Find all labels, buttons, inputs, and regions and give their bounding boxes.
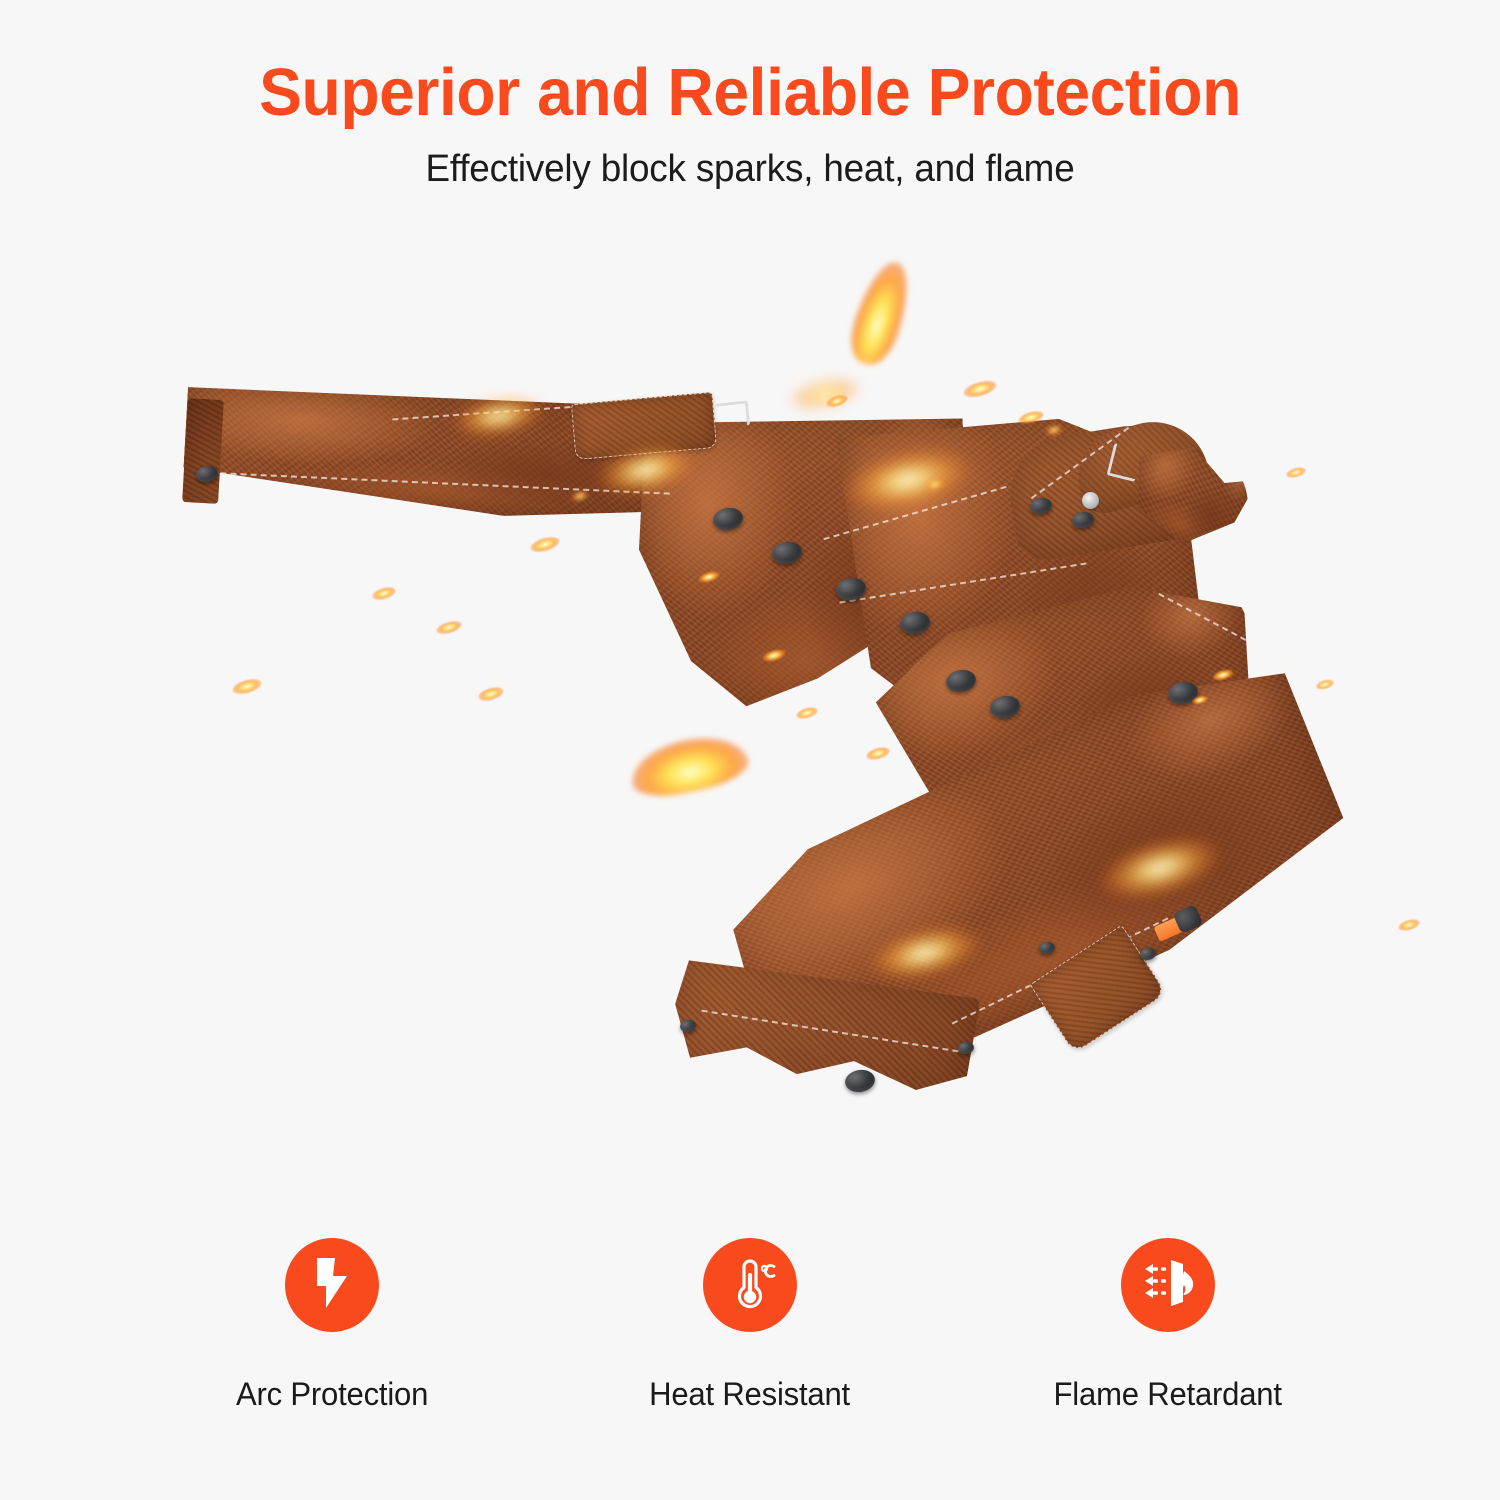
header: Superior and Reliable Protection Effecti…	[0, 58, 1500, 191]
page-title: Superior and Reliable Protection	[30, 58, 1470, 128]
snap-button	[1139, 947, 1157, 962]
welding-jacket-illustration	[0, 230, 1500, 1210]
feature-label-flame-retardant: Flame Retardant	[1054, 1376, 1282, 1413]
marketing-page: Superior and Reliable Protection Effecti…	[0, 0, 1500, 1500]
feature-label-heat-resistant: Heat Resistant	[650, 1376, 851, 1413]
flame-retardant-icon-circle	[1121, 1238, 1215, 1332]
lightning-bolt-icon	[307, 1256, 357, 1315]
feature-heat-resistant: Heat Resistant	[625, 1238, 875, 1413]
thermometer-celsius-icon	[722, 1255, 778, 1316]
product-image	[0, 230, 1500, 1210]
collar-eyelet	[1082, 492, 1099, 509]
left-sleeve-cuff	[182, 398, 224, 504]
feature-arc-protection: Arc Protection	[207, 1238, 457, 1413]
snap-button	[957, 1041, 975, 1056]
arc-protection-icon-circle	[285, 1238, 379, 1332]
snap-button	[843, 1068, 876, 1095]
page-subtitle: Effectively block sparks, heat, and flam…	[23, 148, 1478, 191]
feature-label-arc-protection: Arc Protection	[236, 1376, 428, 1413]
feature-flame-retardant: Flame Retardant	[1043, 1238, 1293, 1413]
flame-barrier-icon	[1137, 1255, 1199, 1316]
heat-resistant-icon-circle	[703, 1238, 797, 1332]
pocket-clip	[715, 400, 750, 428]
feature-list: Arc Protection Heat	[0, 1238, 1500, 1413]
